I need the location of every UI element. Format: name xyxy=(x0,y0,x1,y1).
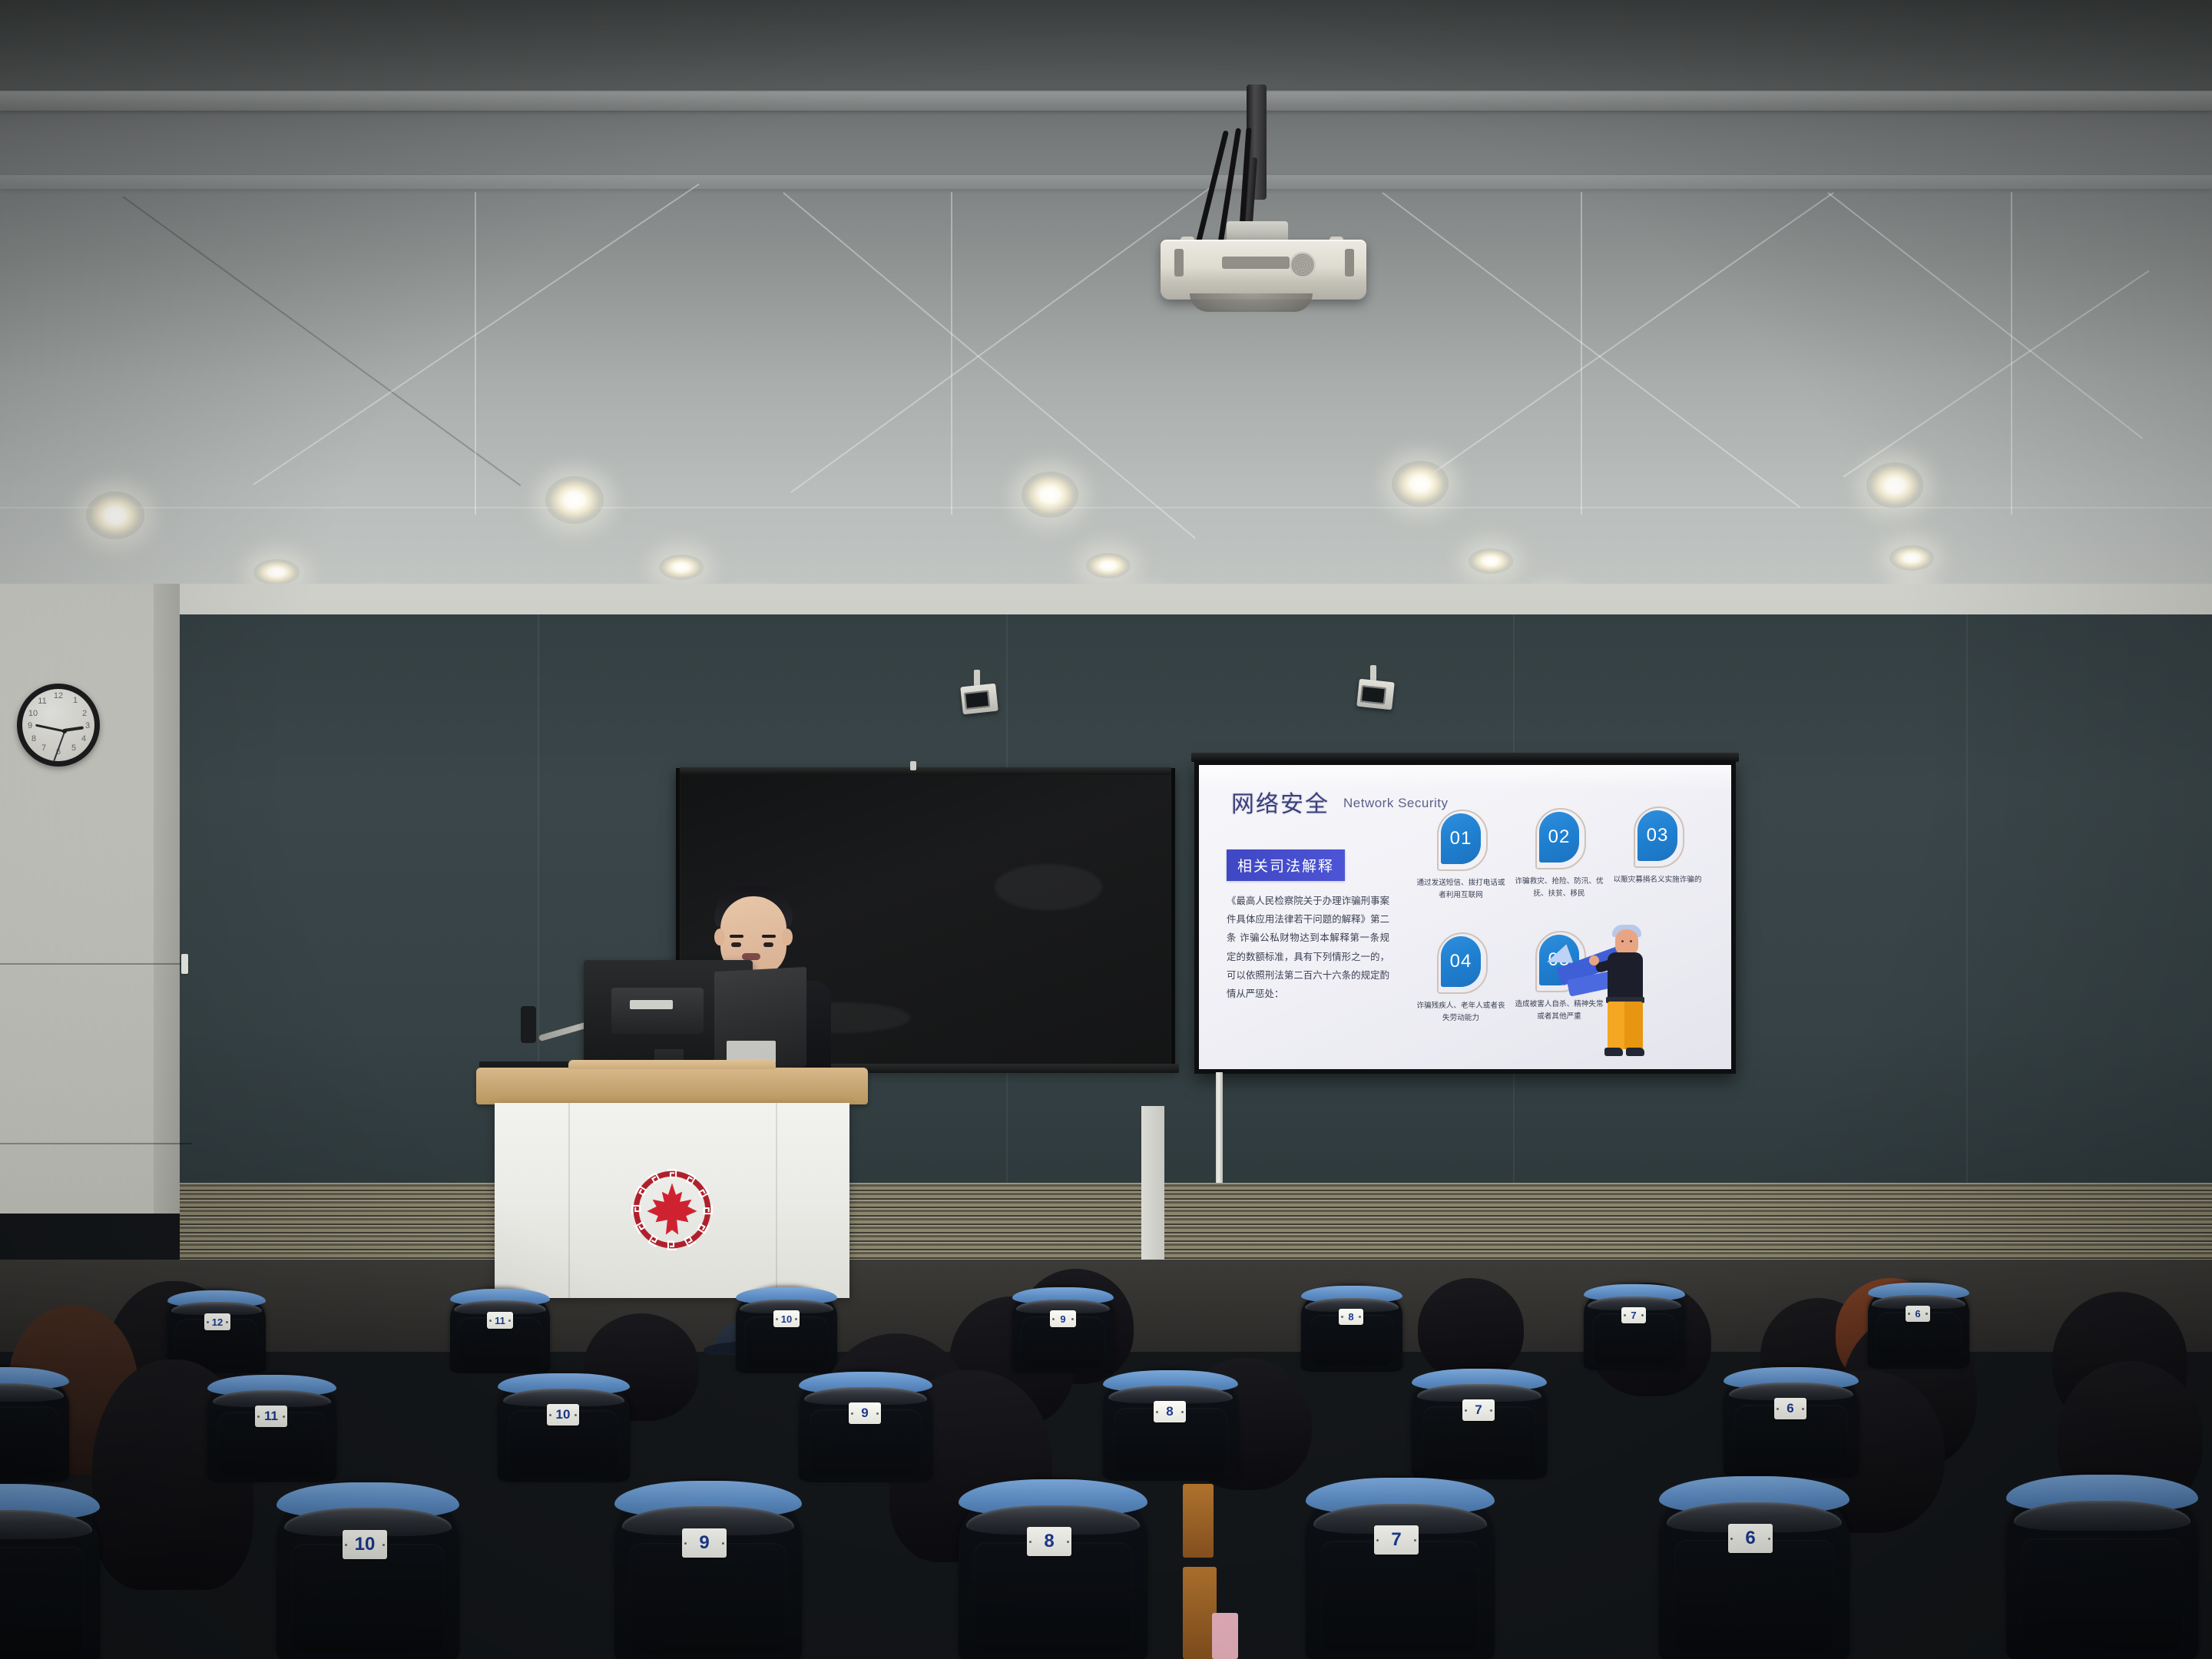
clock-numeral: 9 xyxy=(25,721,35,730)
seat-back xyxy=(974,1542,1133,1653)
ceiling-downlight xyxy=(1086,553,1131,578)
shield-number: 04 xyxy=(1450,951,1472,972)
projector-vent xyxy=(1174,249,1184,276)
seat[interactable]: 8 xyxy=(1301,1286,1402,1372)
shield-number: 01 xyxy=(1450,828,1472,849)
ceiling-downlight xyxy=(1866,462,1923,508)
seat-back xyxy=(291,1544,445,1652)
illustration-shoe xyxy=(1604,1048,1623,1056)
wall-panel-seam xyxy=(1966,614,1968,1198)
slide-body-text: 《最高人民检察院关于办理诈骗刑事案件具体应用法律若干问题的解释》第二条 诈骗公私… xyxy=(1227,892,1389,1003)
seat-back xyxy=(2022,1538,2183,1651)
slide-shield-03: 03 xyxy=(1634,806,1681,865)
projector-speaker-grille xyxy=(1290,252,1316,278)
wall-clock: 12 1 2 3 4 5 6 7 8 9 10 11 xyxy=(17,684,100,767)
seat[interactable]: 7 xyxy=(1584,1284,1685,1370)
ceiling-downlight xyxy=(253,559,300,585)
seat-armrest xyxy=(1183,1484,1214,1558)
audience-head xyxy=(1418,1278,1524,1379)
wall-trim-line xyxy=(0,1143,192,1144)
seat-back xyxy=(630,1543,787,1653)
seat-number-plate: 7 xyxy=(1621,1307,1646,1323)
seat-number-plate: 10 xyxy=(773,1310,800,1327)
seat[interactable]: 11 xyxy=(450,1289,550,1373)
presenter-ear xyxy=(714,929,725,945)
slide-shield-caption-03: 以赈灾募捐名义实施诈骗的 xyxy=(1612,874,1703,886)
seat-number-plate: 7 xyxy=(1374,1525,1419,1555)
wall-speaker-left xyxy=(960,684,998,715)
seat[interactable]: 6 xyxy=(1659,1476,1849,1659)
shield-fill: 04 xyxy=(1441,936,1481,987)
ceiling-seam-vertical xyxy=(1581,192,1582,515)
slide-section-banner: 相关司法解释 xyxy=(1227,849,1345,881)
ceiling-seam xyxy=(1382,192,1800,508)
slide-shield-caption-01: 通过发送短信、拨打电话或者利用互联网 xyxy=(1416,877,1506,902)
seat[interactable] xyxy=(0,1484,100,1659)
seat-armrest xyxy=(1212,1613,1238,1659)
ceiling-beam-upper xyxy=(0,91,2212,111)
slide-shield-02: 02 xyxy=(1535,808,1583,866)
seat[interactable]: 7 xyxy=(1306,1478,1495,1659)
blackboard-clip xyxy=(910,761,916,770)
wall-bracket xyxy=(181,954,188,974)
clock-numeral: 11 xyxy=(37,697,48,706)
seat[interactable]: 9 xyxy=(614,1481,802,1659)
seat[interactable]: 11 xyxy=(207,1375,336,1482)
seat[interactable]: 8 xyxy=(959,1479,1147,1659)
ceiling-seam-vertical xyxy=(951,192,952,515)
seat[interactable]: 6 xyxy=(1724,1367,1859,1478)
slide-illustration xyxy=(1560,925,1675,1063)
shield-number: 02 xyxy=(1548,826,1571,848)
seat-number-plate: 8 xyxy=(1154,1401,1186,1422)
seat[interactable] xyxy=(0,1367,69,1482)
presenter-mouth xyxy=(742,953,760,960)
slide-title-english: Network Security xyxy=(1343,796,1448,811)
illustration-hand xyxy=(1589,955,1599,965)
projector-body xyxy=(1161,240,1366,300)
clock-numeral: 3 xyxy=(82,721,93,730)
wall-speaker-right xyxy=(1356,679,1395,710)
seat[interactable]: 10 xyxy=(498,1373,630,1482)
ceiling-downlight xyxy=(545,476,604,524)
ceiling-seam xyxy=(790,184,1214,492)
slide-content: 网络安全 Network Security 相关司法解释 《最高人民检察院关于办… xyxy=(1199,765,1731,1069)
presenter-ear xyxy=(782,929,793,945)
shield-fill: 03 xyxy=(1637,810,1677,861)
ceiling-seam xyxy=(253,184,699,485)
seat-number-plate: 10 xyxy=(547,1404,579,1426)
slide-shield-04: 04 xyxy=(1437,932,1485,991)
left-wall-column xyxy=(0,584,154,1214)
seat[interactable]: 6 xyxy=(1868,1283,1969,1369)
presenter-eyebrow xyxy=(762,935,776,938)
projector-ports xyxy=(1222,257,1290,269)
seat-back xyxy=(1674,1540,1834,1652)
seat-number-plate: 7 xyxy=(1462,1399,1495,1421)
clock-center-pin xyxy=(62,729,67,733)
seat-back xyxy=(1321,1541,1480,1652)
seat-number-plate: 8 xyxy=(1339,1309,1363,1325)
ceiling-downlight xyxy=(1469,548,1513,574)
shield-fill: 01 xyxy=(1441,813,1481,864)
seat[interactable] xyxy=(2006,1475,2198,1659)
clock-second-hand xyxy=(53,732,65,761)
blackboard-chalk-smudge xyxy=(995,864,1102,910)
projector-vent xyxy=(1345,249,1354,276)
wall-trim-line xyxy=(0,963,189,965)
illustration-eye xyxy=(1621,940,1624,942)
projector-lens xyxy=(1190,293,1313,312)
podium-desktop-surface xyxy=(476,1068,868,1104)
ceiling-downlight xyxy=(659,555,704,580)
screen-glare xyxy=(1199,765,1731,791)
illustration-eye xyxy=(1630,940,1632,942)
blackboard-top-rail xyxy=(680,767,1171,775)
ceiling-downlight xyxy=(1889,545,1934,571)
slide-shield-01: 01 xyxy=(1437,810,1485,868)
shield-number: 03 xyxy=(1647,825,1669,846)
seat-number-plate: 8 xyxy=(1027,1527,1071,1556)
seat-number-plate: 11 xyxy=(255,1406,287,1427)
monitor-label xyxy=(630,1000,673,1009)
ceiling-downlight xyxy=(1392,461,1449,507)
seat[interactable]: 7 xyxy=(1412,1369,1547,1479)
clock-numeral: 7 xyxy=(38,743,49,753)
lecture-hall-scene: 12 1 2 3 4 5 6 7 8 9 10 11 xyxy=(0,0,2212,1659)
presenter-eye xyxy=(731,942,741,947)
seat-number-plate: 9 xyxy=(682,1528,727,1558)
seat-number-plate: 9 xyxy=(1050,1310,1076,1327)
screen-frame: 网络安全 Network Security 相关司法解释 《最高人民检察院关于办… xyxy=(1194,760,1736,1074)
seat[interactable]: 9 xyxy=(799,1372,932,1482)
presenter-eyebrow xyxy=(730,935,743,938)
seat-number-plate: 10 xyxy=(343,1530,387,1559)
seat-number-plate: 6 xyxy=(1774,1398,1806,1419)
slide-shield-caption-04: 诈骗残疾人、老年人或者丧失劳动能力 xyxy=(1416,1000,1506,1025)
seat-back xyxy=(0,1406,58,1475)
wall-speaker-bracket xyxy=(974,670,980,687)
ceiling-dark-strip xyxy=(0,0,2212,92)
projection-screen[interactable]: 网络安全 Network Security 相关司法解释 《最高人民检察院关于办… xyxy=(1194,760,1736,1083)
presenter-eye xyxy=(763,942,773,947)
ceiling-seam-horizontal xyxy=(0,507,2212,508)
clock-numeral: 1 xyxy=(70,696,81,705)
ceiling-downlight xyxy=(1022,472,1078,518)
seat-back xyxy=(0,1547,84,1657)
slide-shield-caption-02: 诈骗救灾、抢险、防汛、优抚、扶贫、移民 xyxy=(1514,876,1604,900)
shield-fill: 02 xyxy=(1539,812,1579,863)
seat-number-plate: 6 xyxy=(1906,1306,1930,1322)
seat[interactable]: 9 xyxy=(1012,1287,1114,1373)
ceiling-seam xyxy=(1405,192,1833,493)
clock-numeral: 10 xyxy=(28,709,38,718)
left-wall-column-edge xyxy=(154,584,180,1214)
monitor-back-panel xyxy=(611,988,704,1034)
clock-numeral: 2 xyxy=(79,709,90,718)
clock-numeral: 8 xyxy=(28,734,39,743)
seat-number-plate: 6 xyxy=(1728,1524,1773,1553)
illustration-head xyxy=(1615,929,1638,955)
ceiling-downlight xyxy=(86,492,144,539)
microphone-clip xyxy=(521,1006,536,1043)
seat[interactable]: 8 xyxy=(1103,1370,1238,1481)
clock-numeral: 4 xyxy=(78,734,89,743)
seat-number-plate: 9 xyxy=(849,1402,881,1424)
clock-face: 12 1 2 3 4 5 6 7 8 9 10 11 xyxy=(22,689,94,761)
ceiling-beam-lower xyxy=(0,175,2212,189)
clock-numeral: 5 xyxy=(68,743,79,753)
seat-number-plate: 11 xyxy=(487,1312,513,1329)
clock-numeral: 12 xyxy=(53,691,64,700)
ceiling-seam xyxy=(1843,270,2149,478)
ceiling-seam-vertical xyxy=(475,192,476,515)
screen-surface: 网络安全 Network Security 相关司法解释 《最高人民检察院关于办… xyxy=(1199,765,1731,1069)
seat[interactable]: 10 xyxy=(276,1482,459,1659)
seat[interactable]: 10 xyxy=(736,1287,837,1373)
audience-seating: 12 11 10 9 8 7 xyxy=(0,1183,2212,1659)
illustration-legs xyxy=(1608,1002,1643,1049)
ceiling-seam xyxy=(1827,192,2143,439)
clock-minute-hand xyxy=(35,724,65,733)
ceiling-projector xyxy=(1156,84,1371,284)
illustration-shoe xyxy=(1626,1048,1644,1056)
seat-trim xyxy=(213,1390,332,1407)
seat-number-plate: 12 xyxy=(204,1313,230,1330)
ceiling xyxy=(0,0,2212,614)
ceiling-seam xyxy=(122,196,521,486)
ceiling-seam-vertical xyxy=(2011,192,2012,515)
